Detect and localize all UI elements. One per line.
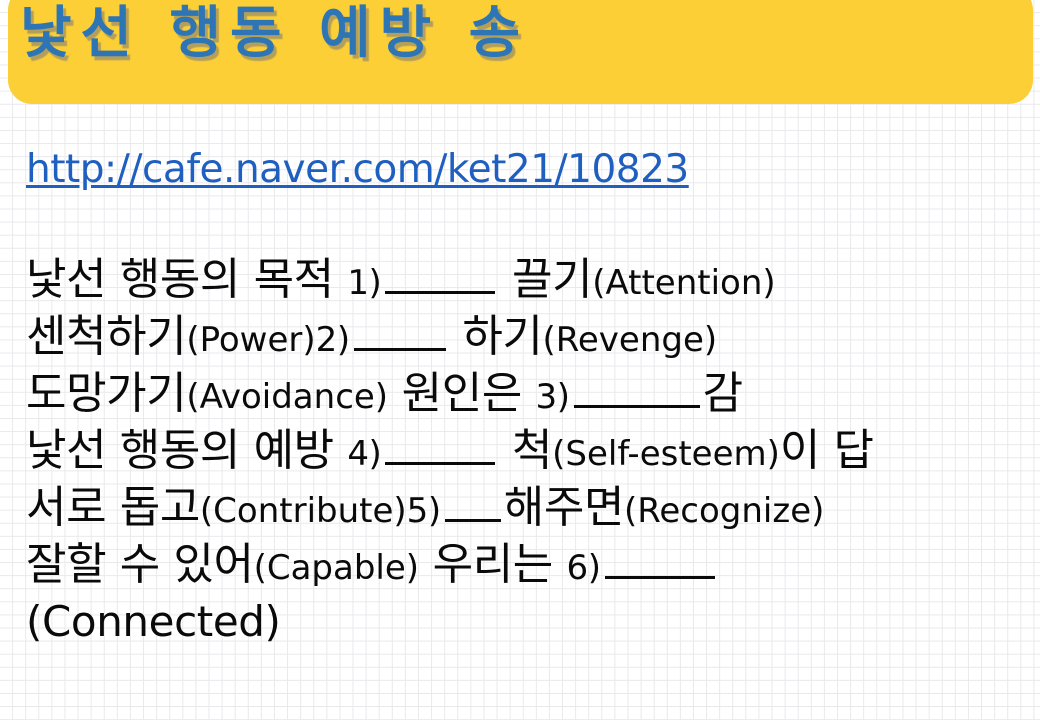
lyric-korean-lead: 서로 돕고 <box>26 482 200 533</box>
lyric-korean-tail: 감 <box>703 368 743 419</box>
lyric-latin-lead: (Avoidance) <box>186 377 388 417</box>
lyric-korean-lead: 도망가기 <box>26 368 186 419</box>
fill-blank <box>605 546 715 579</box>
lyric-line: (Connected) <box>26 593 1036 650</box>
lyric-number: 2) <box>316 320 350 360</box>
slide-canvas: 낯선 행동 예방 송 http://cafe.naver.com/ket21/1… <box>0 0 1040 720</box>
lyric-korean-lead: 낯선 행동의 예방 <box>26 425 347 476</box>
lyric-number: 4) <box>347 434 381 474</box>
lyric-line: 잘할 수 있어(Capable) 우리는 6) <box>26 536 1036 593</box>
lyric-line: 낯선 행동의 예방 4) 척(Self-esteem)이 답 <box>26 422 1036 479</box>
lyric-latin: (Self-esteem) <box>552 434 780 474</box>
lyric-korean-pre-num: 우리는 <box>419 539 566 590</box>
fill-blank <box>385 261 495 294</box>
page-title: 낯선 행동 예방 송 <box>20 6 529 62</box>
fill-blank <box>385 432 495 465</box>
link-row: http://cafe.naver.com/ket21/10823 <box>26 147 689 192</box>
lyric-line: 센척하기(Power)2) 하기(Revenge) <box>26 308 1036 365</box>
lyric-korean-lead: 낯선 행동의 목적 <box>26 254 347 305</box>
lyric-korean-mid: 해주면 <box>504 482 624 533</box>
lyrics-body: 낯선 행동의 목적 1) 끌기(Attention) 센척하기(Power)2)… <box>26 251 1036 650</box>
lyric-line: 도망가기(Avoidance) 원인은 3)감 <box>26 365 1036 422</box>
title-banner: 낯선 행동 예방 송 <box>8 0 1033 104</box>
lyric-korean-lead: 잘할 수 있어 <box>26 539 254 590</box>
fill-blank <box>354 318 446 351</box>
lyric-number: 6) <box>566 548 600 588</box>
lyric-number: 3) <box>536 377 570 417</box>
lyric-latin-lead: (Capable) <box>254 548 419 588</box>
lyric-latin: (Revenge) <box>543 320 718 360</box>
lyric-korean-lead: 센척하기 <box>26 311 186 362</box>
lyric-line: 낯선 행동의 목적 1) 끌기(Attention) <box>26 251 1036 308</box>
lyric-korean-mid: 척 <box>498 425 552 476</box>
lyric-latin: (Attention) <box>592 263 775 303</box>
lyric-korean-pre-num: 원인은 <box>388 368 535 419</box>
lyric-latin-lead: (Contribute) <box>200 491 407 531</box>
lyric-number: 5) <box>407 491 441 531</box>
lyric-latin: (Recognize) <box>624 491 824 531</box>
lyric-korean-mid: 끌기 <box>498 254 592 305</box>
lyric-line: 서로 돕고(Contribute)5)해주면(Recognize) <box>26 479 1036 536</box>
fill-blank <box>445 489 501 522</box>
fill-blank <box>574 375 700 408</box>
lyric-korean-tail: 이 답 <box>780 425 874 476</box>
lyric-number: 1) <box>347 263 381 303</box>
lyric-latin-lead: (Power) <box>186 320 315 360</box>
cafe-naver-link[interactable]: http://cafe.naver.com/ket21/10823 <box>26 147 689 192</box>
lyric-latin-lead: (Connected) <box>26 597 281 646</box>
lyric-korean-mid: 하기 <box>449 311 543 362</box>
